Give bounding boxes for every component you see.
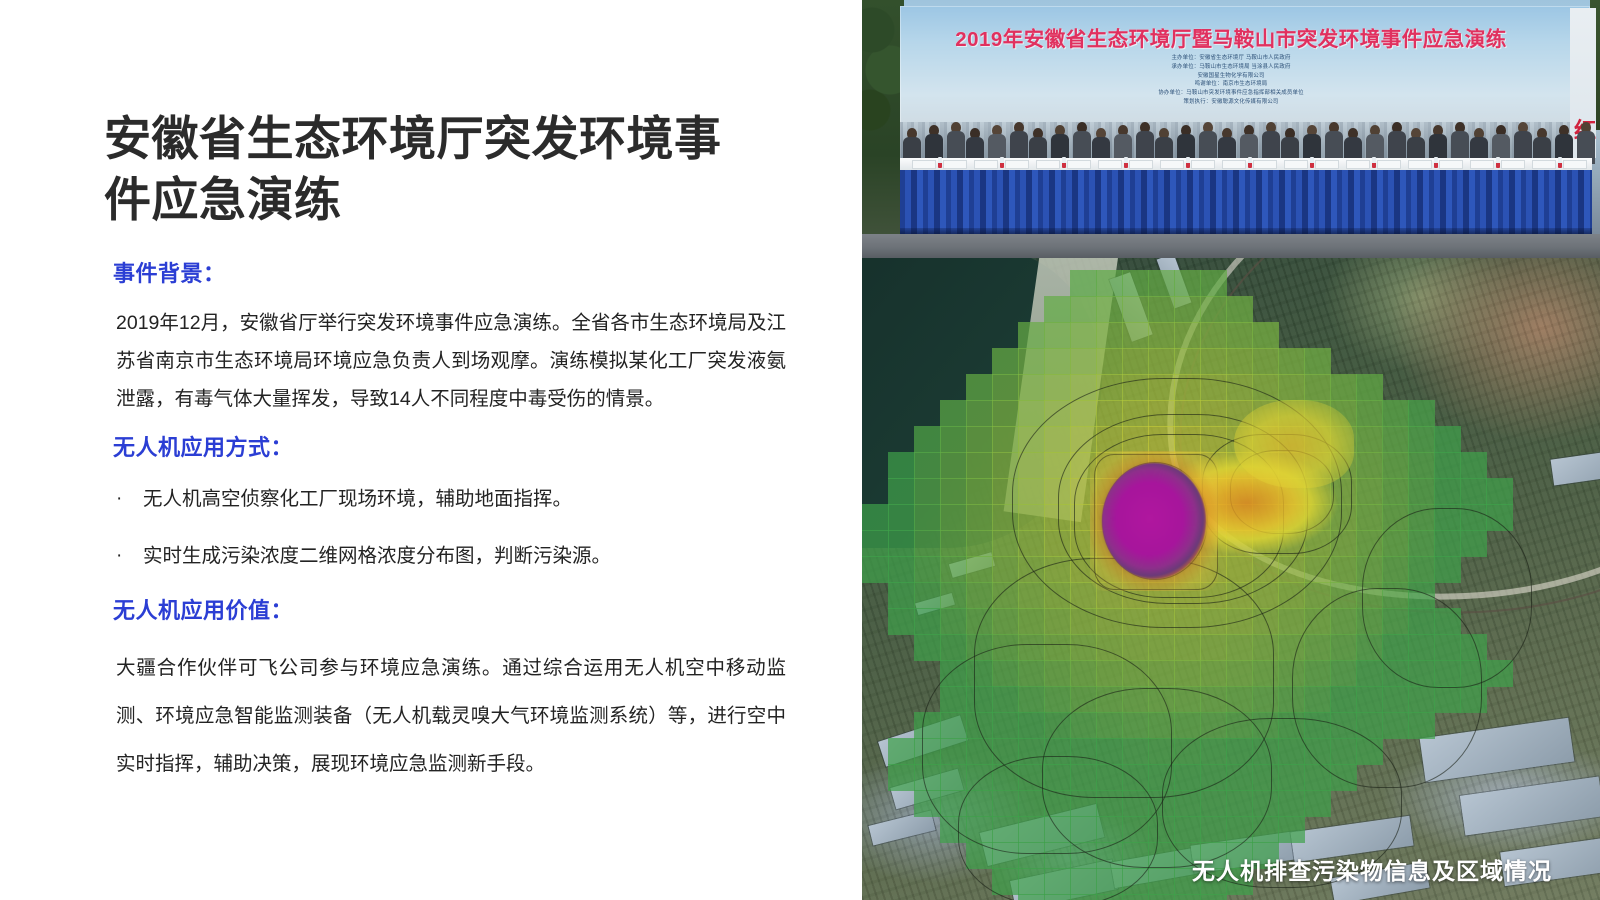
table-name-card [1532,160,1556,169]
heatmap-cell [1278,608,1305,635]
heatmap-cell [966,504,993,531]
heatmap-cell [966,582,993,609]
table-name-card [1067,160,1091,169]
heatmap-cell [1018,348,1045,375]
heatmap-cell [992,374,1019,401]
heatmap-cell [940,452,967,479]
water-bottle [1248,157,1252,168]
heatmap-cell [914,582,941,609]
heatmap-cell [1148,348,1175,375]
table-name-card [1160,160,1184,169]
heatmap-cell [940,400,967,427]
heatmap-cell [992,426,1019,453]
heatmap-cell [1070,296,1097,323]
banner-subline: 协办单位：马鞍山市突发环境事件应急指挥部相关成员单位 [862,89,1600,98]
heatmap-cell [1382,478,1409,505]
blue-table-skirt [900,170,1592,236]
heatmap-cell [1226,296,1253,323]
list-item-label: 实时生成污染浓度二维网格浓度分布图，判断污染源。 [143,545,611,567]
table-name-card [1501,160,1525,169]
heatmap-cell [1044,348,1071,375]
heatmap-cell [1382,400,1409,427]
heatmap-cell [966,478,993,505]
water-bottle [1558,157,1562,168]
heatmap-cell [1408,426,1435,453]
section-body-value: 大疆合作伙伴可飞公司参与环境应急演练。通过综合运用无人机空中移动监测、环境应急智… [116,645,786,788]
heatmap-cell [1122,894,1149,900]
table-name-card [1470,160,1494,169]
heatmap-cell [1070,270,1097,297]
heatmap-cell [940,426,967,453]
heatmap-cell [1200,322,1227,349]
heatmap-cell [1070,322,1097,349]
page-title: 安徽省生态环境厅突发环境事件应急演练 [104,108,724,230]
conference-photo: 2019年安徽省生态环境厅暨马鞍山市突发环境事件应急演练 主办单位：安徽省生态环… [862,0,1600,258]
water-bottle [1186,157,1190,168]
list-item-label: 无人机高空侦察化工厂现场环境，辅助地面指挥。 [143,488,572,510]
heatmap-cell [1330,374,1357,401]
heatmap-cell [1148,270,1175,297]
heatmap-cell [940,504,967,531]
image-column: 2019年安徽省生态环境厅暨马鞍山市突发环境事件应急演练 主办单位：安徽省生态环… [862,0,1600,900]
heatmap-cell [1096,296,1123,323]
table-name-card [1098,160,1122,169]
banner-subline: 承办单位：马鞍山市生态环境局 当涂县人民政府 [862,63,1600,72]
table-name-card [974,160,998,169]
heatmap-cell [940,608,967,635]
heatmap-cell [1460,478,1487,505]
banner-subline: 安徽国星生物化学有限公司 [862,72,1600,81]
heatmap-cell [862,530,889,557]
heatmap-cell [1174,894,1201,900]
heatmap-cell [940,556,967,583]
heatmap-cell [1252,348,1279,375]
heatmap-cell [992,556,1019,583]
hotspot-plume-secondary [1234,400,1354,488]
heatmap-cell [1070,348,1097,375]
table-name-card [1346,160,1370,169]
heatmap-cell [862,504,889,531]
heatmap-cell [1278,374,1305,401]
heatmap-cell [1408,478,1435,505]
section-heading-value: 无人机应用价值： [113,593,293,625]
heatmap-cell [1122,348,1149,375]
bullet-marker-icon: · [116,542,122,571]
table-name-card [1191,160,1215,169]
heatmap-cell [1408,452,1435,479]
heatmap-cell [940,530,967,557]
heatmap-cell [888,582,915,609]
heatmap-cell [1174,322,1201,349]
heatmap-cell [966,426,993,453]
text-column: 安徽省生态环境厅突发环境事件应急演练 事件背景： 2019年12月，安徽省厅举行… [0,0,862,900]
section-heading-background: 事件背景： [113,256,226,288]
heatmap-cell [1018,374,1045,401]
banner-subline: 策划执行：安徽聪源文化传媒有限公司 [862,98,1600,107]
heatmap-cell [1122,296,1149,323]
heatmap-cell [888,608,915,635]
heatmap-cell [1434,478,1461,505]
heatmap-cell [1408,400,1435,427]
table-name-card [1439,160,1463,169]
banner-subline: 主办单位：安徽省生态环境厅 马鞍山市人民政府 [862,54,1600,63]
water-bottle [1000,157,1004,168]
water-bottle [1434,157,1438,168]
heatmap-cell [1304,374,1331,401]
heatmap-cell [1252,322,1279,349]
water-bottle [1496,157,1500,168]
water-bottle [1372,157,1376,168]
table-name-card [912,160,936,169]
heatmap-cell [914,478,941,505]
heatmap-cell [888,738,915,765]
heatmap-cell [1200,296,1227,323]
heatmap-cell [1044,322,1071,349]
contour-line [1362,508,1532,688]
heatmap-cell [1148,296,1175,323]
heatmap-cell [940,582,967,609]
table-name-card [1129,160,1153,169]
heatmap-cell [1278,348,1305,375]
heatmap-cell [1200,270,1227,297]
heatmap-cell [1434,426,1461,453]
heatmap-cell [888,556,915,583]
section-body-background: 2019年12月，安徽省厅举行突发环境事件应急演练。全省各市生态环境局及江苏省南… [116,304,786,418]
heatmap-cell [1304,348,1331,375]
pollution-concentration-overlay [862,258,1600,900]
table-name-card [1222,160,1246,169]
heatmap-cell [1122,270,1149,297]
heatmap-cell [1096,270,1123,297]
heatmap-cell [940,634,967,661]
table-name-card [943,160,967,169]
heatmap-cell [966,556,993,583]
venue-floor [862,234,1600,258]
pollution-source-hotspot [1102,463,1206,579]
table-name-card [1377,160,1401,169]
water-bottle [938,157,942,168]
heatmap-cell [1486,478,1513,505]
heatmap-cell [888,764,915,791]
table-name-card [1005,160,1029,169]
heatmap-cell [940,478,967,505]
heatmap-cell [914,556,941,583]
water-bottle [1062,157,1066,168]
heatmap-cell [1174,270,1201,297]
map-caption: 无人机排查污染物信息及区域情况 [1192,852,1552,886]
heatmap-cell [1096,322,1123,349]
heatmap-cell [1044,296,1071,323]
heatmap-cell [914,530,941,557]
conference-tabletop [900,158,1592,170]
heatmap-cell [1200,348,1227,375]
heatmap-cell [992,348,1019,375]
heatmap-cell [966,452,993,479]
heatmap-cell [888,478,915,505]
heatmap-cell [914,608,941,635]
slide-root: 安徽省生态环境厅突发环境事件应急演练 事件背景： 2019年12月，安徽省厅举行… [0,0,1600,900]
heatmap-cell [888,504,915,531]
heatmap-cell [1356,452,1383,479]
heatmap-cell [914,504,941,531]
heatmap-cell [1174,348,1201,375]
heatmap-cell [1460,452,1487,479]
table-name-card [1253,160,1277,169]
heatmap-cell [1356,400,1383,427]
list-item: · 无人机高空侦察化工厂现场环境，辅助地面指挥。 [113,485,793,514]
aerial-heatmap-image: 无人机排查污染物信息及区域情况 [862,258,1600,900]
heatmap-cell [914,426,941,453]
event-banner-title: 2019年安徽省生态环境厅暨马鞍山市突发环境事件应急演练 [862,22,1600,52]
table-name-card [1284,160,1308,169]
heatmap-cell [1226,322,1253,349]
heatmap-cell [1356,374,1383,401]
heatmap-cell [1330,556,1357,583]
heatmap-cell [888,452,915,479]
heatmap-cell [1096,348,1123,375]
list-item: · 实时生成污染浓度二维网格浓度分布图，判断污染源。 [113,542,793,571]
heatmap-cell [888,530,915,557]
heatmap-cell [1044,374,1071,401]
bullet-marker-icon: · [116,485,122,514]
heatmap-cell [1356,426,1383,453]
table-name-card [1315,160,1339,169]
water-bottle [1124,157,1128,168]
heatmap-cell [966,530,993,557]
heatmap-cell [1382,426,1409,453]
heatmap-cell [966,374,993,401]
heatmap-cell [914,634,941,661]
heatmap-cell [1382,452,1409,479]
heatmap-cell [1122,322,1149,349]
contour-line [958,756,1158,900]
event-banner-sublines: 主办单位：安徽省生态环境厅 马鞍山市人民政府承办单位：马鞍山市生态环境局 当涂县… [862,54,1600,107]
table-name-card [1563,160,1587,169]
method-bullet-list: · 无人机高空侦察化工厂现场环境，辅助地面指挥。 · 实时生成污染浓度二维网格浓… [113,485,793,600]
water-bottle [1310,157,1314,168]
heatmap-cell [1356,478,1383,505]
heatmap-cell [862,556,889,583]
heatmap-cell [1356,504,1383,531]
banner-subline: 鸣谢单位：南京市生态环境局 [862,80,1600,89]
heatmap-cell [1434,452,1461,479]
section-heading-method: 无人机应用方式： [113,430,293,462]
heatmap-cell [914,452,941,479]
heatmap-cell [1200,894,1227,900]
heatmap-cell [1148,894,1175,900]
heatmap-cell [1174,296,1201,323]
heatmap-cell [992,400,1019,427]
heatmap-cell [1018,322,1045,349]
table-name-card [1036,160,1060,169]
heatmap-cell [1018,400,1045,427]
heatmap-cell [966,400,993,427]
heatmap-cell [1226,348,1253,375]
table-name-card [1408,160,1432,169]
heatmap-cell [1148,322,1175,349]
heatmap-cell [1148,868,1175,895]
